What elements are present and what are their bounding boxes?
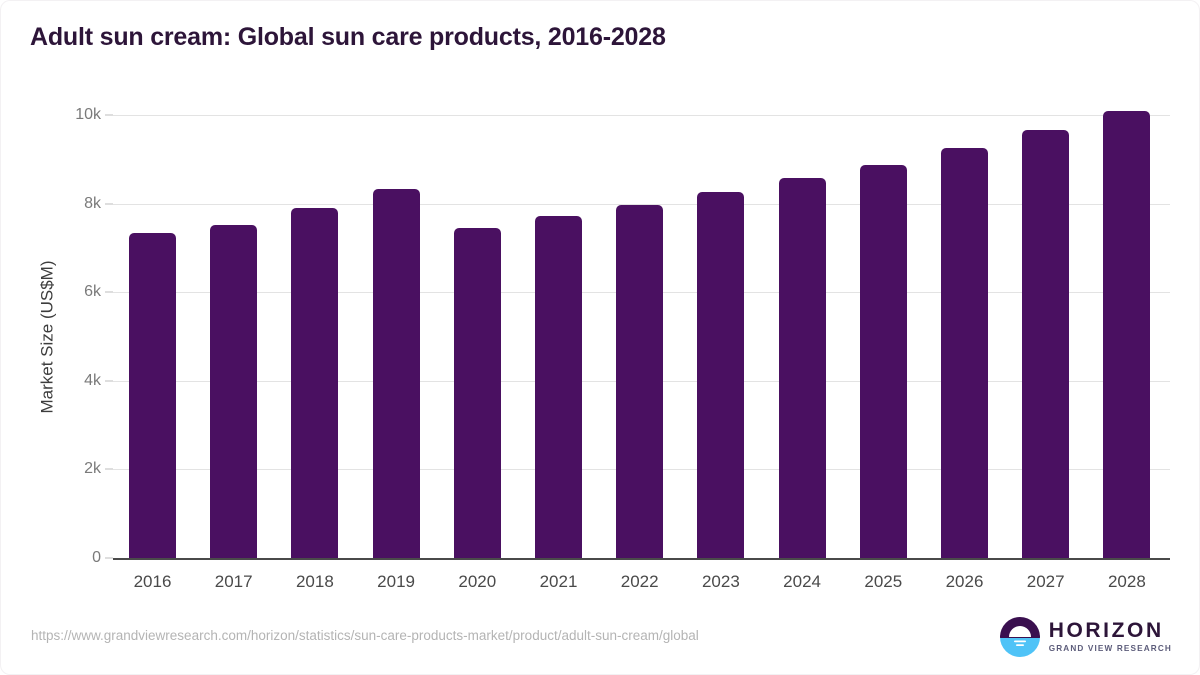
bar[interactable] — [535, 216, 582, 558]
bar[interactable] — [941, 148, 988, 558]
y-tick-label: 8k — [84, 195, 101, 213]
horizon-logo: HORIZON GRAND VIEW RESEARCH — [1000, 617, 1172, 657]
y-tick-label: 0 — [92, 549, 101, 567]
x-tick-label: 2019 — [356, 572, 436, 592]
x-tick-label: 2017 — [194, 572, 274, 592]
y-tick-label: 6k — [84, 283, 101, 301]
horizon-logo-icon — [1000, 617, 1040, 657]
bar[interactable] — [616, 205, 663, 558]
bar[interactable] — [697, 192, 744, 558]
bar[interactable] — [129, 233, 176, 558]
y-tick-mark — [105, 292, 113, 293]
bar[interactable] — [1022, 130, 1069, 558]
bar[interactable] — [860, 165, 907, 558]
chart-canvas: Adult sun cream: Global sun care product… — [0, 0, 1200, 675]
bar[interactable] — [373, 189, 420, 558]
x-tick-label: 2027 — [1006, 572, 1086, 592]
y-tick-label: 4k — [84, 372, 101, 390]
x-tick-label: 2021 — [519, 572, 599, 592]
x-tick-label: 2025 — [843, 572, 923, 592]
y-tick-label: 2k — [84, 460, 101, 478]
horizon-logo-text: HORIZON GRAND VIEW RESEARCH — [1049, 620, 1172, 653]
plot-area: 02k4k6k8k10k — [113, 115, 1170, 558]
x-tick-label: 2026 — [925, 572, 1005, 592]
y-tick-label: 10k — [75, 106, 101, 124]
axis-baseline — [113, 558, 1170, 560]
y-tick-mark — [105, 469, 113, 470]
gridline — [113, 115, 1170, 116]
y-tick-mark — [105, 558, 113, 559]
x-tick-label: 2016 — [113, 572, 193, 592]
y-axis-title-label: Market Size (US$M) — [38, 260, 58, 413]
y-tick-mark — [105, 203, 113, 204]
y-tick-mark — [105, 115, 113, 116]
logo-wordmark: HORIZON — [1049, 620, 1172, 641]
x-tick-label: 2020 — [437, 572, 517, 592]
x-tick-label: 2023 — [681, 572, 761, 592]
bar[interactable] — [1103, 111, 1150, 558]
x-tick-label: 2024 — [762, 572, 842, 592]
bar[interactable] — [454, 228, 501, 558]
bar[interactable] — [210, 225, 257, 558]
x-tick-label: 2022 — [600, 572, 680, 592]
bar[interactable] — [779, 178, 826, 558]
source-url: https://www.grandviewresearch.com/horizo… — [31, 628, 699, 643]
bar[interactable] — [291, 208, 338, 558]
page-title: Adult sun cream: Global sun care product… — [30, 23, 666, 52]
logo-tagline: GRAND VIEW RESEARCH — [1049, 645, 1172, 653]
y-axis-title: Market Size (US$M) — [36, 115, 60, 558]
x-tick-label: 2028 — [1087, 572, 1167, 592]
x-tick-label: 2018 — [275, 572, 355, 592]
y-tick-mark — [105, 380, 113, 381]
